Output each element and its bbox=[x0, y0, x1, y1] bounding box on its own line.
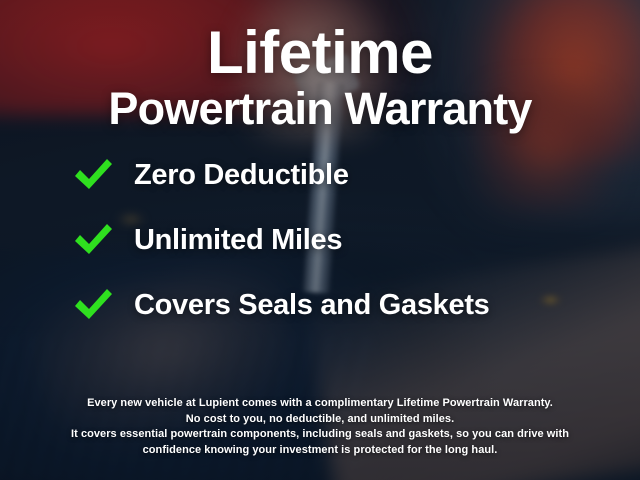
benefit-label: Unlimited Miles bbox=[134, 224, 342, 256]
legal-line-1: Every new vehicle at Lupient comes with … bbox=[26, 396, 614, 412]
legal-disclaimer: Every new vehicle at Lupient comes with … bbox=[0, 396, 640, 458]
headline: Lifetime Powertrain Warranty bbox=[0, 0, 640, 134]
headline-line-1: Lifetime bbox=[0, 22, 640, 84]
legal-line-4: confidence knowing your investment is pr… bbox=[26, 443, 614, 459]
benefit-item-zero-deductible: Zero Deductible bbox=[72, 156, 640, 194]
benefit-item-unlimited-miles: Unlimited Miles bbox=[72, 221, 640, 259]
banner-content: Lifetime Powertrain Warranty Zero Deduct… bbox=[0, 0, 640, 480]
check-icon bbox=[72, 156, 114, 194]
legal-line-3: It covers essential powertrain component… bbox=[26, 427, 614, 443]
legal-line-2: No cost to you, no deductible, and unlim… bbox=[26, 412, 614, 428]
benefit-label: Covers Seals and Gaskets bbox=[134, 289, 490, 321]
benefit-list: Zero Deductible Unlimited Miles Covers S… bbox=[0, 156, 640, 324]
check-icon bbox=[72, 286, 114, 324]
headline-line-2: Powertrain Warranty bbox=[0, 84, 640, 134]
benefit-label: Zero Deductible bbox=[134, 159, 349, 191]
warranty-banner: Lifetime Powertrain Warranty Zero Deduct… bbox=[0, 0, 640, 480]
benefit-item-covers-seals-and-gaskets: Covers Seals and Gaskets bbox=[72, 286, 640, 324]
check-icon bbox=[72, 221, 114, 259]
